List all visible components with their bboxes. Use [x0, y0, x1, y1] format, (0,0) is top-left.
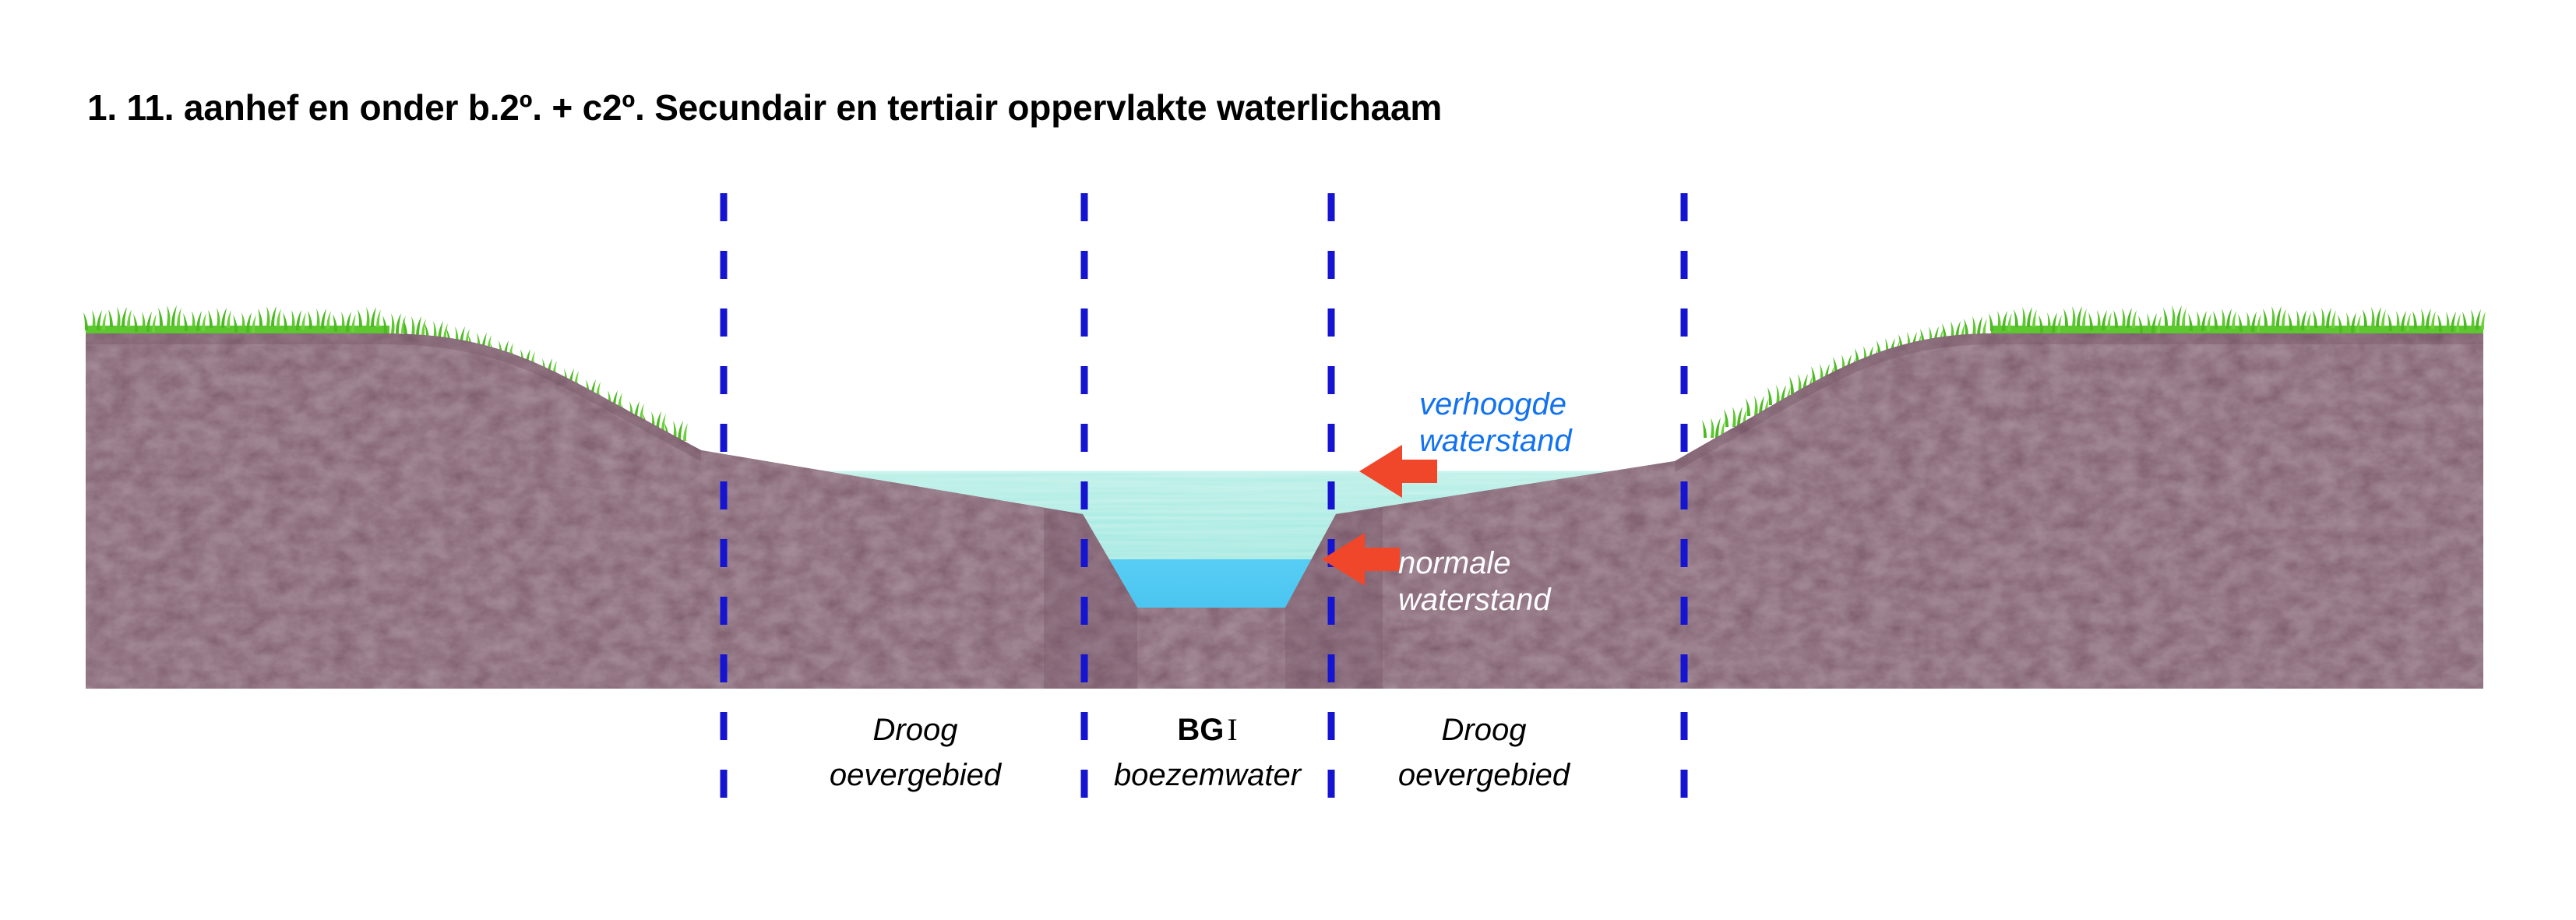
zone-mid-line2: boezemwater — [1091, 753, 1324, 798]
zone-right-line2: oevergebied — [1371, 753, 1597, 798]
verhoogde-waterstand-label: verhoogde waterstand — [1419, 386, 1572, 460]
zone-label-droog-oevergebied-left: Droog oevergebied — [802, 707, 1028, 798]
normale-waterstand-line2: waterstand — [1398, 583, 1551, 617]
zone-left-line2: oevergebied — [802, 753, 1028, 798]
zone-mid-line1: BGI — [1091, 707, 1324, 753]
zone-right-line1: Droog — [1371, 707, 1597, 753]
normale-waterstand-line1: normale — [1398, 546, 1511, 580]
zone-label-bg-i-boezemwater: BGI boezemwater — [1091, 707, 1324, 798]
normale-waterstand-label: normale waterstand — [1398, 545, 1551, 619]
zone-mid-roman: I — [1224, 712, 1237, 747]
verhoogde-waterstand-line2: waterstand — [1419, 424, 1572, 458]
cross-section-figure: 1. 11. aanhef en onder b.2º. + c2º. Secu… — [0, 0, 2576, 920]
zone-label-droog-oevergebied-right: Droog oevergebied — [1371, 707, 1597, 798]
zone-left-line1: Droog — [802, 707, 1028, 753]
zone-mid-code: BG — [1177, 713, 1224, 747]
verhoogde-waterstand-line1: verhoogde — [1419, 387, 1566, 421]
